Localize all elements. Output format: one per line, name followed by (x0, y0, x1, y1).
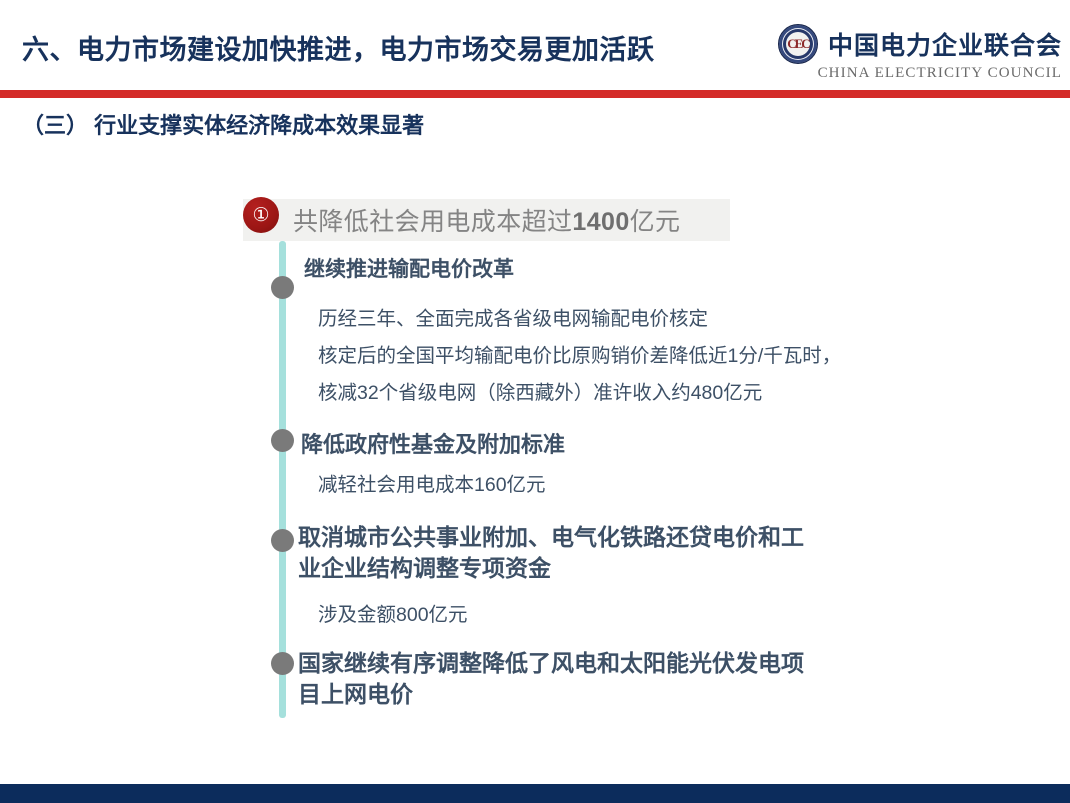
seal-monogram: CEC (786, 32, 810, 56)
brand-name-en: CHINA ELECTRICITY COUNCIL (818, 65, 1062, 82)
callout-banner: ① 共降低社会用电成本超过1400亿元 (243, 199, 730, 241)
section-3-heading-line-1: 取消城市公共事业附加、电气化铁路还贷电价和工 (298, 522, 804, 553)
callout-text-prefix: 共降低社会用电成本超过 (293, 208, 572, 236)
brand-logo: CEC 中国电力企业联合会 CHINA ELECTRICITY COUNCIL (778, 24, 1062, 82)
section-3: 取消城市公共事业附加、电气化铁路还贷电价和工 业企业结构调整专项资金 (298, 522, 804, 584)
section-2-detail-1: 减轻社会用电成本160亿元 (318, 467, 546, 504)
section-3-details: 涉及金额800亿元 (318, 597, 468, 634)
timeline-dot-3 (271, 529, 294, 552)
section-1-details: 历经三年、全面完成各省级电网输配电价核定 核定后的全国平均输配电价比原购销价差降… (318, 301, 841, 412)
callout-text-number: 1400 (572, 208, 629, 236)
section-1-detail-1: 历经三年、全面完成各省级电网输配电价核定 (318, 301, 841, 338)
section-1-heading: 继续推进输配电价改革 (304, 256, 514, 284)
callout-text-suffix: 亿元 (630, 208, 681, 236)
number-one-badge-icon: ① (243, 197, 279, 233)
brand-name-cn: 中国电力企业联合会 (828, 26, 1062, 62)
footer-bar (0, 784, 1070, 803)
timeline-dot-1 (271, 276, 294, 299)
badge-glyph: ① (252, 206, 269, 225)
section-2: 降低政府性基金及附加标准 (301, 430, 565, 459)
section-subtitle: （三） 行业支撑实体经济降成本效果显著 (22, 108, 424, 140)
section-2-heading: 降低政府性基金及附加标准 (301, 430, 565, 459)
brand-row: CEC 中国电力企业联合会 (778, 24, 1062, 64)
timeline-dot-4 (271, 652, 294, 675)
timeline-track (279, 241, 286, 718)
section-4-heading-line-2: 目上网电价 (298, 679, 804, 710)
red-divider (0, 90, 1070, 98)
callout-text: 共降低社会用电成本超过1400亿元 (293, 202, 680, 238)
section-1-detail-2: 核定后的全国平均输配电价比原购销价差降低近1分/千瓦时， (318, 338, 841, 375)
section-4: 国家继续有序调整降低了风电和太阳能光伏发电项 目上网电价 (298, 648, 804, 710)
section-3-heading-line-2: 业企业结构调整专项资金 (298, 553, 804, 584)
section-1-detail-3: 核减32个省级电网（除西藏外）准许收入约480亿元 (318, 375, 841, 412)
section-1: 继续推进输配电价改革 (304, 256, 514, 284)
slide-header: 六、电力市场建设加快推进，电力市场交易更加活跃 CEC 中国电力企业联合会 CH… (0, 0, 1070, 90)
page-title: 六、电力市场建设加快推进，电力市场交易更加活跃 (22, 28, 655, 67)
section-3-detail-1: 涉及金额800亿元 (318, 597, 468, 634)
timeline-dot-2 (271, 429, 294, 452)
section-4-heading-line-1: 国家继续有序调整降低了风电和太阳能光伏发电项 (298, 648, 804, 679)
section-2-details: 减轻社会用电成本160亿元 (318, 467, 546, 504)
cec-seal-icon: CEC (778, 24, 818, 64)
